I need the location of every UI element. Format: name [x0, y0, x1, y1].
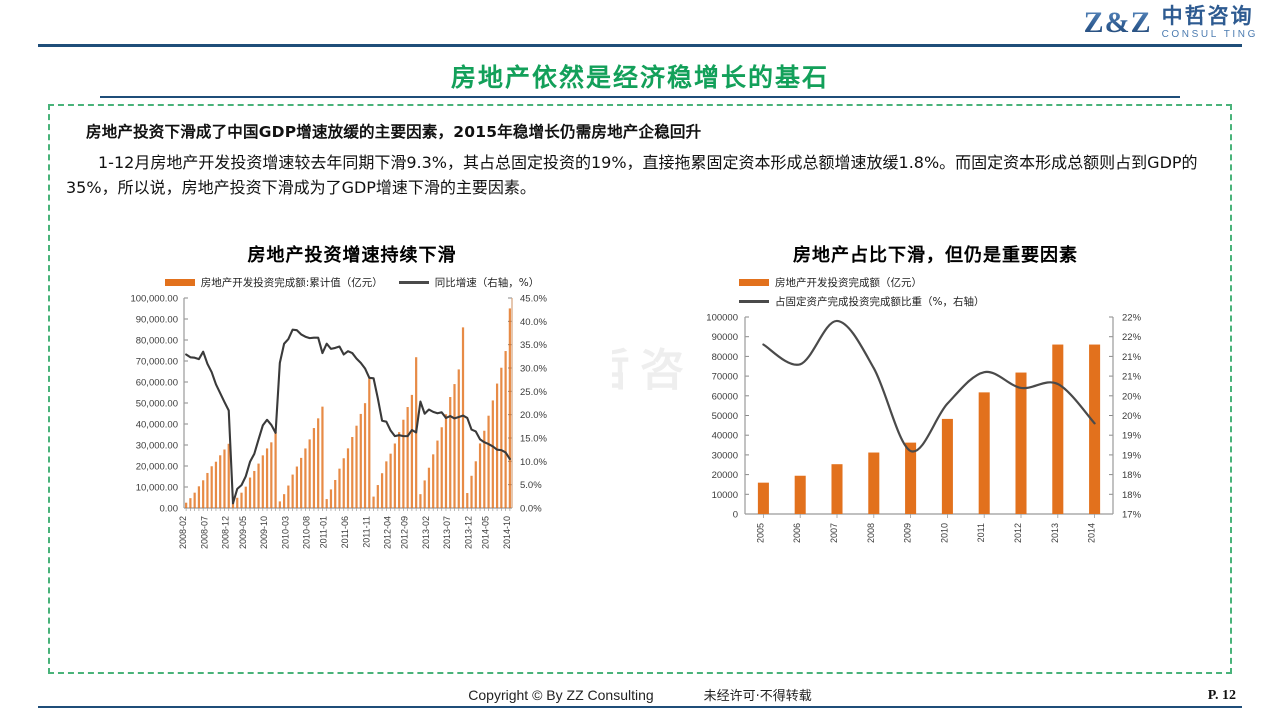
chart-left-legend: 房地产开发投资完成额:累计值（亿元） 同比增速（右轴，%） — [92, 275, 612, 290]
content-panel: 房地产投资下滑成了中国GDP增速放缓的主要因素，2015年稳增长仍需房地产企稳回… — [48, 104, 1232, 674]
svg-text:2009: 2009 — [903, 523, 913, 543]
bar-swatch-icon — [739, 279, 769, 286]
svg-text:50,000.00: 50,000.00 — [136, 399, 178, 410]
svg-text:50000: 50000 — [712, 411, 738, 422]
svg-text:20%: 20% — [1122, 411, 1142, 422]
svg-text:0: 0 — [733, 510, 738, 521]
svg-text:2010: 2010 — [939, 523, 949, 543]
svg-text:100000: 100000 — [706, 313, 738, 324]
legend-item: 房地产开发投资完成额（亿元） — [739, 275, 922, 290]
chart-left: 房地产投资增速持续下滑 房地产开发投资完成额:累计值（亿元） 同比增速（右轴，%… — [92, 241, 612, 579]
charts-row: 房地产投资增速持续下滑 房地产开发投资完成额:累计值（亿元） 同比增速（右轴，%… — [50, 241, 1230, 579]
svg-text:20,000.00: 20,000.00 — [136, 462, 178, 473]
svg-text:2008: 2008 — [866, 523, 876, 543]
svg-text:2006: 2006 — [792, 523, 802, 543]
svg-text:20000: 20000 — [712, 470, 738, 481]
svg-text:5.0%: 5.0% — [520, 480, 542, 491]
logo-mark: Z&Z — [1084, 6, 1152, 40]
page-number: P. 12 — [1208, 688, 1236, 704]
svg-text:45.0%: 45.0% — [520, 294, 547, 305]
svg-text:40,000.00: 40,000.00 — [136, 420, 178, 431]
svg-text:20%: 20% — [1122, 391, 1142, 402]
svg-text:2012: 2012 — [1013, 523, 1023, 543]
chart-right-legend: 房地产开发投资完成额（亿元） 占固定资产完成投资完成额比重（%，右轴） — [683, 275, 1188, 309]
page-title: 房地产依然是经济稳增长的基石 — [0, 58, 1280, 94]
svg-text:2013: 2013 — [1050, 523, 1060, 543]
title-divider — [100, 96, 1180, 98]
svg-text:21%: 21% — [1122, 372, 1142, 383]
header-divider — [38, 44, 1242, 47]
copyright-text: Copyright © By ZZ Consulting — [468, 687, 653, 703]
svg-text:60000: 60000 — [712, 391, 738, 402]
svg-text:30000: 30000 — [712, 450, 738, 461]
svg-text:2009-10: 2009-10 — [259, 516, 269, 549]
svg-text:2011-06: 2011-06 — [340, 516, 350, 548]
svg-text:19%: 19% — [1122, 450, 1142, 461]
svg-text:40.0%: 40.0% — [520, 317, 547, 328]
svg-text:20.0%: 20.0% — [520, 410, 547, 421]
svg-text:2005: 2005 — [755, 523, 765, 543]
logo-company-en: CONSUL TING — [1162, 30, 1258, 40]
brand-logo: Z&Z 中哲咨询 CONSUL TING — [1084, 6, 1258, 40]
bar-swatch-icon — [165, 279, 195, 286]
footer: Copyright © By ZZ Consulting 未经许可·不得转载 — [0, 685, 1280, 704]
svg-text:0.0%: 0.0% — [520, 504, 542, 515]
line-swatch-icon — [739, 300, 769, 303]
svg-text:21%: 21% — [1122, 352, 1142, 363]
legend-item: 房地产开发投资完成额:累计值（亿元） — [165, 275, 383, 290]
legend-item: 同比增速（右轴，%） — [399, 275, 539, 290]
svg-text:18%: 18% — [1122, 470, 1142, 481]
svg-text:90000: 90000 — [712, 332, 738, 343]
svg-text:30,000.00: 30,000.00 — [136, 441, 178, 452]
footer-divider — [38, 706, 1242, 708]
line-swatch-icon — [399, 281, 429, 284]
svg-text:0.00: 0.00 — [160, 504, 179, 515]
svg-text:70,000.00: 70,000.00 — [136, 357, 178, 368]
svg-text:2012-04: 2012-04 — [383, 516, 393, 549]
chart-right-title: 房地产占比下滑，但仍是重要因素 — [683, 241, 1188, 267]
svg-text:90,000.00: 90,000.00 — [136, 315, 178, 326]
svg-text:2013-12: 2013-12 — [464, 516, 474, 549]
svg-text:2014-10: 2014-10 — [502, 516, 512, 549]
notice-text: 未经许可·不得转载 — [704, 689, 812, 704]
chart-right-plot: 1000009000080000700006000050000400003000… — [683, 309, 1188, 579]
svg-text:2014: 2014 — [1087, 523, 1097, 543]
svg-text:2008-07: 2008-07 — [199, 516, 209, 549]
chart-left-title: 房地产投资增速持续下滑 — [92, 241, 612, 267]
svg-text:2008-12: 2008-12 — [221, 516, 231, 549]
chart-right-svg: 1000009000080000700006000050000400003000… — [683, 309, 1188, 579]
svg-text:2011-11: 2011-11 — [361, 516, 371, 548]
chart-right: 房地产占比下滑，但仍是重要因素 房地产开发投资完成额（亿元） 占固定资产完成投资… — [683, 241, 1188, 579]
svg-text:10000: 10000 — [712, 490, 738, 501]
svg-text:10,000.00: 10,000.00 — [136, 483, 178, 494]
svg-text:2013-02: 2013-02 — [421, 516, 431, 549]
svg-text:2007: 2007 — [829, 523, 839, 543]
svg-text:2009-05: 2009-05 — [238, 516, 248, 549]
lead-statement: 房地产投资下滑成了中国GDP增速放缓的主要因素，2015年稳增长仍需房地产企稳回… — [86, 120, 1230, 142]
svg-text:2013-07: 2013-07 — [442, 516, 452, 549]
svg-text:30.0%: 30.0% — [520, 364, 547, 375]
svg-text:60,000.00: 60,000.00 — [136, 378, 178, 389]
chart-left-plot: 100,000.0090,000.0080,000.0070,000.0060,… — [92, 290, 612, 575]
svg-text:2010-03: 2010-03 — [280, 516, 290, 549]
svg-text:22%: 22% — [1122, 313, 1142, 324]
slide-root: Z&Z 中哲咨询 CONSUL TING 房地产依然是经济稳增长的基石 房地产投… — [0, 0, 1280, 720]
svg-text:2014-05: 2014-05 — [481, 516, 491, 549]
svg-text:25.0%: 25.0% — [520, 387, 547, 398]
svg-text:10.0%: 10.0% — [520, 457, 547, 468]
svg-text:19%: 19% — [1122, 431, 1142, 442]
svg-text:2011: 2011 — [976, 523, 986, 542]
svg-text:2011-01: 2011-01 — [319, 516, 329, 548]
svg-text:70000: 70000 — [712, 372, 738, 383]
svg-text:18%: 18% — [1122, 490, 1142, 501]
svg-text:2010-08: 2010-08 — [302, 516, 312, 549]
svg-text:80000: 80000 — [712, 352, 738, 363]
svg-text:80,000.00: 80,000.00 — [136, 336, 178, 347]
legend-label: 占固定资产完成投资完成额比重（%，右轴） — [775, 294, 984, 309]
svg-text:17%: 17% — [1122, 510, 1142, 521]
svg-text:2008-02: 2008-02 — [178, 516, 188, 549]
legend-item: 占固定资产完成投资完成额比重（%，右轴） — [739, 294, 984, 309]
chart-left-svg: 100,000.0090,000.0080,000.0070,000.0060,… — [92, 290, 612, 575]
legend-label: 房地产开发投资完成额:累计值（亿元） — [201, 275, 383, 290]
svg-text:35.0%: 35.0% — [520, 340, 547, 351]
logo-text: 中哲咨询 CONSUL TING — [1162, 6, 1258, 40]
svg-text:40000: 40000 — [712, 431, 738, 442]
legend-label: 房地产开发投资完成额（亿元） — [775, 275, 922, 290]
svg-text:100,000.00: 100,000.00 — [130, 294, 178, 305]
body-paragraph: 1-12月房地产开发投资增速较去年同期下滑9.3%，其占总固定投资的19%，直接… — [66, 151, 1212, 201]
legend-label: 同比增速（右轴，%） — [435, 275, 539, 290]
svg-text:2012-09: 2012-09 — [400, 516, 410, 549]
svg-text:22%: 22% — [1122, 332, 1142, 343]
logo-company-cn: 中哲咨询 — [1162, 6, 1258, 27]
svg-text:15.0%: 15.0% — [520, 434, 547, 445]
